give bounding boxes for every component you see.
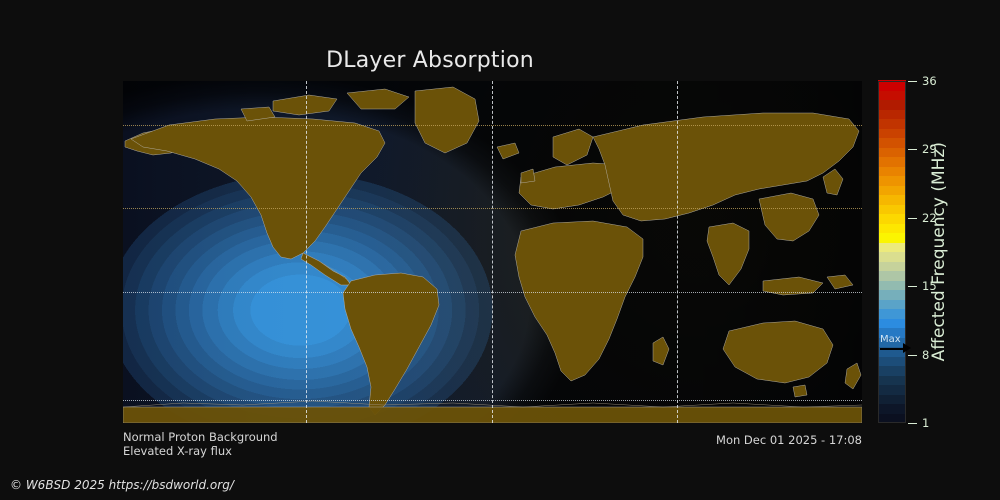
- colorbar-segment: [878, 156, 906, 166]
- colorbar-segment: [878, 147, 906, 157]
- colorbar-segment: [878, 251, 906, 261]
- max-marker-label: Max: [880, 334, 901, 345]
- graticule: [123, 81, 862, 423]
- colorbar-segment: [878, 299, 906, 309]
- gridline-horizontal: [123, 400, 862, 401]
- max-marker: Max: [879, 334, 913, 360]
- colorbar-segment: [878, 99, 906, 109]
- colorbar-segment: [878, 403, 906, 413]
- colorbar-segment: [878, 384, 906, 394]
- colorbar-segment: [878, 175, 906, 185]
- note-proton-background: Normal Proton Background: [123, 430, 278, 444]
- gridline-horizontal: [123, 208, 862, 209]
- colorbar-segment: [878, 375, 906, 385]
- colorbar-segment: [878, 280, 906, 290]
- colorbar-axis-label: Affected Frequency (MHz): [926, 81, 952, 423]
- colorbar-segment: [878, 308, 906, 318]
- colorbar-gradient: [878, 81, 906, 423]
- colorbar-segment: [878, 185, 906, 195]
- colorbar-segment: [878, 80, 906, 90]
- colorbar-segment: [878, 137, 906, 147]
- colorbar-segment: [878, 365, 906, 375]
- colorbar-segment: [878, 166, 906, 176]
- gridline-horizontal: [123, 292, 862, 293]
- colorbar-segment: [878, 270, 906, 280]
- colorbar[interactable]: 1815222936: [878, 81, 906, 423]
- max-marker-arrow: [880, 348, 905, 350]
- colorbar-segment: [878, 109, 906, 119]
- colorbar-segment: [878, 204, 906, 214]
- colorbar-segment: [878, 213, 906, 223]
- note-xray-flux: Elevated X-ray flux: [123, 444, 232, 458]
- world-map-axes[interactable]: [123, 81, 862, 423]
- colorbar-segment: [878, 223, 906, 233]
- colorbar-segment: [878, 289, 906, 299]
- copyright-notice: © W6BSD 2025 https://bsdworld.org/: [10, 478, 234, 492]
- colorbar-segment: [878, 413, 906, 423]
- colorbar-segment: [878, 232, 906, 242]
- colorbar-segment: [878, 194, 906, 204]
- colorbar-axis-label-text: Affected Frequency (MHz): [929, 142, 949, 361]
- gridline-vertical: [677, 81, 678, 423]
- timestamp: Mon Dec 01 2025 - 17:08: [716, 433, 862, 447]
- colorbar-segment: [878, 118, 906, 128]
- max-marker-arrowhead: [903, 343, 911, 353]
- colorbar-segment: [878, 128, 906, 138]
- colorbar-segment: [878, 242, 906, 252]
- page-title: DLayer Absorption: [0, 48, 860, 73]
- colorbar-segment: [878, 261, 906, 271]
- colorbar-segment: [878, 90, 906, 100]
- gridline-horizontal: [123, 125, 862, 126]
- dlayer-absorption-figure: DLayer Absorption: [0, 0, 1000, 500]
- colorbar-segment: [878, 318, 906, 328]
- gridline-vertical: [306, 81, 307, 423]
- gridline-vertical: [492, 81, 493, 423]
- colorbar-segment: [878, 394, 906, 404]
